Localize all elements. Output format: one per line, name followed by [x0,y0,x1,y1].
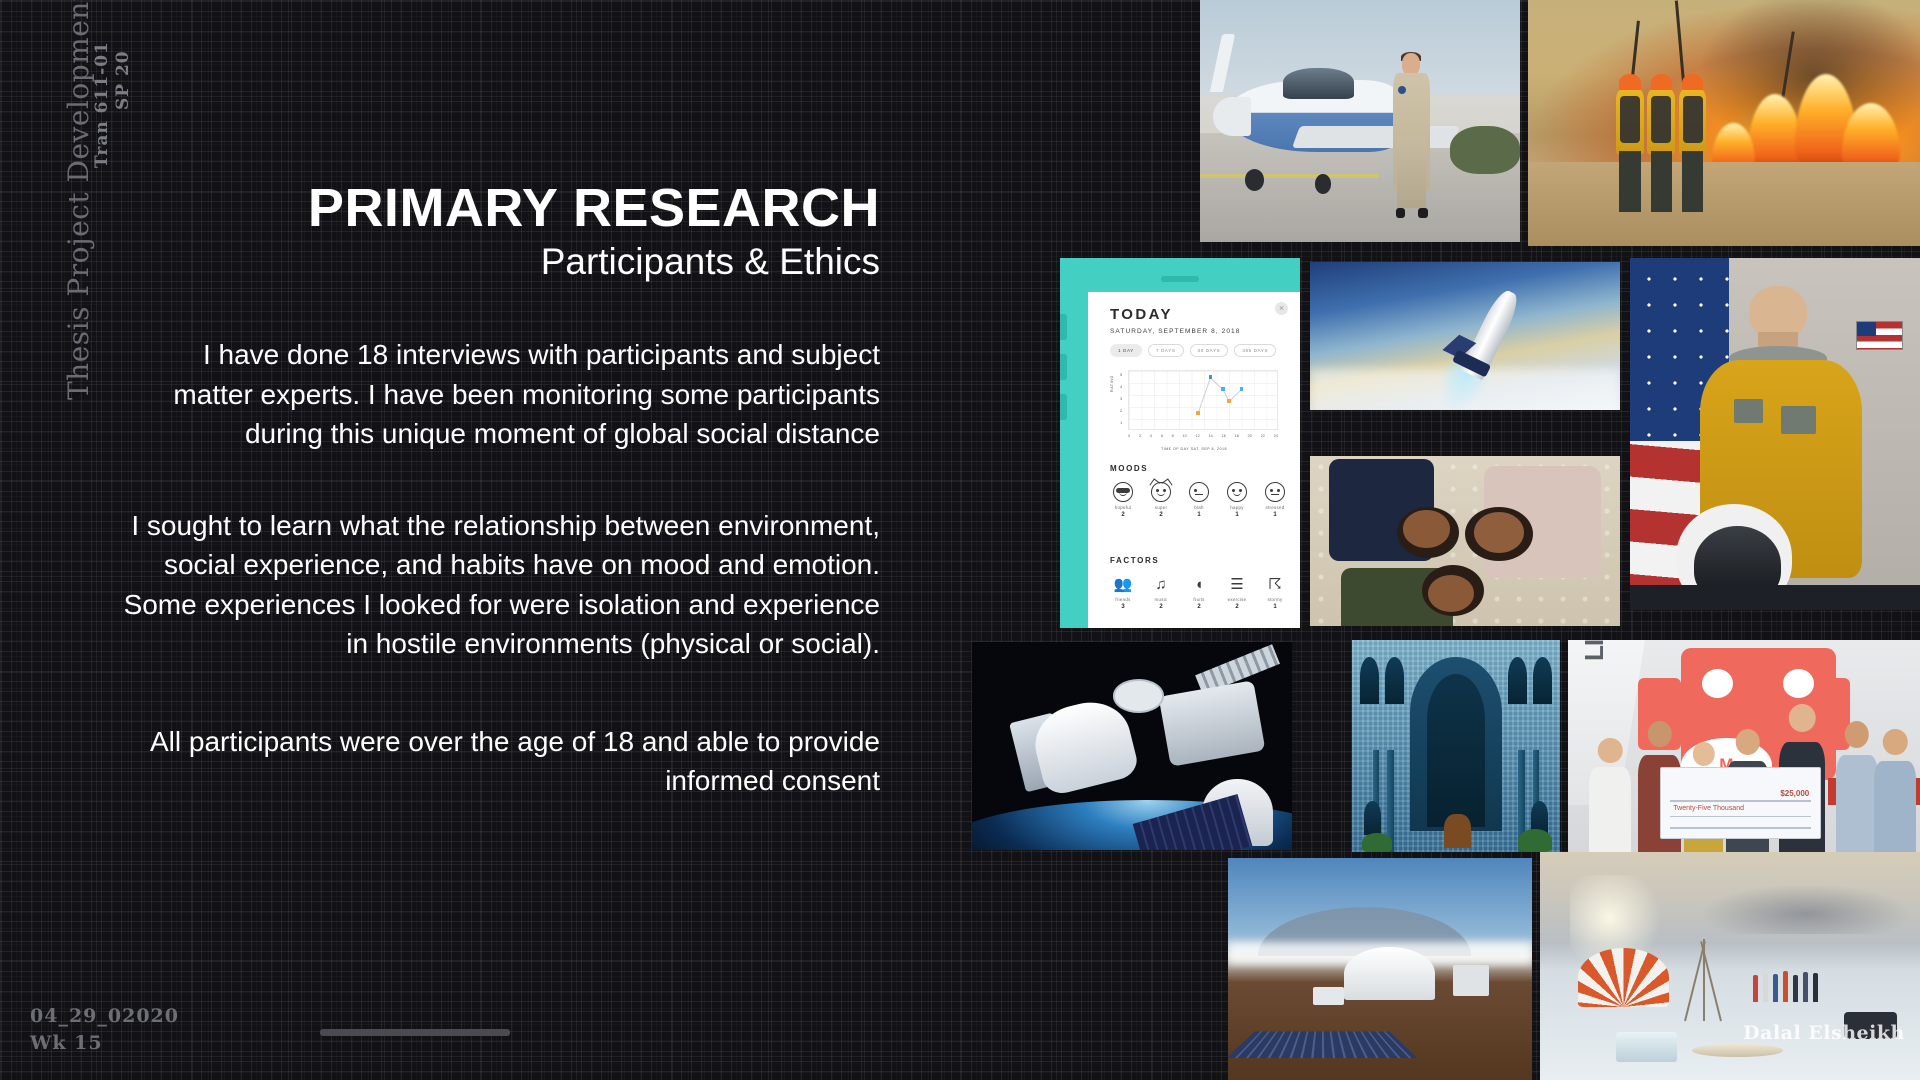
wildfire-scene [1528,0,1920,246]
body-paragraph-3: All participants were over the age of 18… [120,722,880,801]
expedition-team [1753,966,1882,1002]
aircraft-main-wheel [1315,174,1331,193]
mood-stressed[interactable]: stressed 1 [1258,482,1292,518]
pilot-head [1402,53,1419,74]
habitat-scene [1228,858,1532,1080]
presenter-head [1789,704,1816,732]
chart-xtick: 14 [1209,434,1213,438]
mood-hopeful[interactable]: hopeful 2 [1106,482,1140,518]
chart-data-point [1221,387,1225,391]
mood-label: happy [1220,505,1254,510]
phone-button-2 [1060,354,1067,380]
firefighter-helmet [1682,74,1703,92]
body-paragraph-1: I have done 18 interviews with participa… [120,335,880,453]
pilot-duffel-bag [1450,126,1520,174]
attendee-head [1735,729,1759,755]
factor-music[interactable]: ♫ music 2 [1144,574,1178,610]
mood-count: 1 [1182,512,1216,518]
maker-faire-award-photo[interactable]: M LIVE Make [1568,640,1920,852]
live-banner-text: LIVE [1579,640,1610,661]
factor-fruits[interactable]: ◖ fruits 2 [1182,574,1216,610]
mosque-inner-arch [1427,674,1485,827]
chart-data-point [1196,411,1200,415]
solar-panel-array [1228,1031,1418,1058]
aircraft-nose-wheel [1245,169,1264,191]
page-title: PRIMARY RESEARCH [120,180,880,237]
mood-label: hopeful [1106,505,1140,510]
app-title: TODAY [1110,306,1173,323]
spine-course-code: Tran 611-01 [92,41,112,168]
check-memo-line [1670,816,1811,818]
equipment-crate [1313,987,1343,1005]
footer-meta: 04_29_02020 Wk 15 [30,1003,179,1058]
friends-icon: 👥 [1111,574,1135,594]
spine-term: SP 20 [113,50,133,110]
firefighter-legs [1682,151,1703,212]
author-signature: Dalal Elsheikh [1743,1022,1905,1044]
range-selector[interactable]: 1 DAY 7 DAYS 30 DAYS 365 DAYS [1110,344,1276,357]
mood-label: super [1144,505,1178,510]
factor-label: exercise [1220,597,1254,602]
attendee-1 [1589,738,1631,852]
mars-habitat-dome-photo[interactable] [1228,858,1532,1080]
mood-happy[interactable]: happy 1 [1220,482,1254,518]
horns-face-icon [1151,482,1171,502]
firefighter-helmet [1651,74,1672,92]
factor-friends[interactable]: 👥 friends 3 [1106,574,1140,610]
spine-course-title: Thesis Project Development [62,0,95,400]
chart-xtick: 20 [1248,434,1252,438]
mosque-window-5 [1364,801,1381,835]
team-member [1803,972,1808,1003]
aircraft-canopy [1283,68,1353,99]
chart-ytick-4: 4 [1120,384,1122,389]
attendee-head [1844,721,1868,749]
phone-button-1 [1060,314,1067,340]
chart-xtick: 16 [1222,434,1226,438]
shrub-right [1518,829,1551,852]
sled-kayak [1692,1044,1783,1058]
factor-count: 3 [1106,604,1140,610]
attendee-body [1874,761,1916,852]
weights-icon: ☰ [1225,574,1249,594]
team-member [1753,975,1758,1002]
factor-label: music [1144,597,1178,602]
factor-label: stormy [1258,597,1292,602]
suit-patch-center [1781,406,1816,434]
chart-ytick-2: 2 [1120,408,1122,413]
mood-label: blah [1182,505,1216,510]
chart-data-point [1240,387,1244,391]
mosque-window-4 [1533,657,1552,704]
chart-xtick: 24 [1274,434,1278,438]
attendee-body [1589,767,1631,852]
banana-icon: ◖ [1187,574,1211,594]
firefighter-1 [1614,74,1645,212]
mood-label: stressed [1258,505,1292,510]
mosque-window-3 [1508,657,1527,704]
wildfire-firefighters-photo[interactable] [1528,0,1920,246]
pilot-boot-left [1396,208,1405,218]
giant-prize-check: $25,000 Twenty-Five Thousand [1660,767,1822,839]
firefighter-pack [1683,96,1703,143]
range-option-365-days[interactable]: 365 DAYS [1234,344,1276,357]
habitat-dome [1344,947,1435,1000]
chart-y-axis-label: RATING [1110,375,1114,392]
firefighter-pack [1620,96,1640,143]
chart-xtick: 4 [1150,434,1152,438]
firefighter-legs [1651,151,1672,212]
smiley-face-icon [1227,482,1247,502]
factor-exercise[interactable]: ☰ exercise 2 [1220,574,1254,610]
docking-adapter [1113,679,1164,712]
page-subtitle: Participants & Ethics [120,241,880,284]
friends-on-floor-photo[interactable] [1310,456,1620,626]
chart-ytick-5: 5 [1120,372,1122,377]
runway-marking [1200,174,1379,178]
mosque-door [1444,814,1471,848]
mood-count: 2 [1106,512,1140,518]
mosque-window-2 [1385,657,1404,704]
pilot-boot-right [1418,208,1427,218]
close-icon[interactable]: × [1275,302,1288,315]
body-paragraph-2: I sought to learn what the relationship … [120,506,880,664]
crew-dragon-docking-photo[interactable] [972,642,1292,850]
table-surface [1630,585,1920,610]
mood-tracker-phone-mockup[interactable]: × TODAY SATURDAY, SEPTEMBER 8, 2018 1 DA… [1060,258,1300,628]
friend-1-head [1403,510,1450,547]
orange-dome-tent [1578,948,1669,1007]
suit-patch-left [1734,399,1763,424]
chart-xtick: 6 [1161,434,1163,438]
attendee-head [1598,738,1622,763]
support-shed [1453,965,1489,996]
mood-count: 2 [1144,512,1178,518]
chart-xtick: 10 [1183,434,1187,438]
headphones-icon: ♫ [1149,574,1173,594]
chart-line-segment [1197,377,1210,413]
firefighter-helmet [1619,74,1640,92]
mood-blah[interactable]: blah 1 [1182,482,1216,518]
check-amount: $25,000 [1780,789,1809,798]
mood-count: 1 [1258,512,1292,518]
chart-x-axis-ticks: 0 2 4 6 8 10 12 14 16 18 20 22 24 [1128,434,1278,438]
app-screen: × TODAY SATURDAY, SEPTEMBER 8, 2018 1 DA… [1088,292,1300,628]
check-amount-line [1670,800,1811,802]
team-member [1763,973,1768,1003]
phone-frame: × TODAY SATURDAY, SEPTEMBER 8, 2018 1 DA… [1060,258,1300,628]
rocket-launch-photo[interactable] [1310,262,1620,410]
slide-progress-fill [320,1029,510,1036]
aircraft-nose [1213,97,1251,136]
pilot-legs [1397,136,1426,208]
factors-row: 👥 friends 3 ♫ music 2 ◖ fruits 2 [1106,574,1292,610]
factor-label: fruits [1182,597,1216,602]
firefighter-3 [1677,74,1708,212]
mood-count: 1 [1220,512,1254,518]
chart-xtick: 18 [1235,434,1239,438]
astronaut-portrait-photo[interactable] [1630,258,1920,610]
suit-flag-patch [1856,321,1902,349]
arctic-expedition-camp-photo[interactable]: Dalal Elsheikh [1540,852,1920,1080]
attendee-head [1647,721,1671,747]
friend-2-head [1474,512,1524,553]
ice-block [1616,1032,1677,1062]
presentation-slide: Thesis Project Development Tran 611-01 S… [0,0,1920,1080]
check-words: Twenty-Five Thousand [1673,805,1744,812]
slide-progress-bar[interactable] [320,1029,510,1036]
moods-heading: MOODS [1110,464,1148,473]
pilot-aircraft-photo[interactable] [1200,0,1520,242]
factor-count: 2 [1144,604,1178,610]
chart-data-point [1227,399,1231,403]
attendee-head [1692,742,1714,766]
fire-ground [1528,162,1920,246]
team-member [1813,973,1818,1002]
phone-side-buttons [1060,314,1067,434]
friends-scene [1310,456,1620,626]
cloud-bank [1700,884,1913,934]
arctic-scene: Dalal Elsheikh [1540,852,1920,1080]
blue-tiled-mosque-photo[interactable] [1352,640,1560,852]
slide-text-column: PRIMARY RESEARCH Participants & Ethics I… [120,180,880,800]
factors-heading: FACTORS [1110,556,1159,565]
station-docking-node [1159,680,1266,766]
attendee-head [1883,729,1907,755]
range-option-1-day[interactable]: 1 DAY [1110,344,1142,357]
range-option-30-days[interactable]: 30 DAYS [1190,344,1229,357]
attendee-6 [1874,729,1916,852]
firefighter-pack [1651,96,1671,143]
shrub-left [1362,833,1391,852]
factor-label: friends [1106,597,1140,602]
phone-speaker [1161,276,1199,282]
footer-date: 04_29_02020 [30,1003,179,1031]
team-member [1793,975,1798,1003]
firefighter-legs [1619,151,1640,212]
attendee-body [1836,755,1878,852]
spacecraft-scene [972,642,1292,850]
mood-rating-chart [1128,370,1278,430]
chart-data-point [1209,375,1213,379]
chart-ytick-1: 1 [1120,420,1122,425]
pilot-aircraft-scene [1200,0,1520,242]
footer-week: Wk 15 [30,1030,179,1058]
chart-ytick-3: 3 [1120,396,1122,401]
range-option-7-days[interactable]: 7 DAYS [1148,344,1184,357]
award-ceremony-scene: M LIVE Make [1568,640,1920,852]
team-member [1783,971,1788,1002]
chart-xtick: 2 [1139,434,1141,438]
chart-xtick: 8 [1172,434,1174,438]
mood-super[interactable]: super 2 [1144,482,1178,518]
mosque-facade [1352,640,1560,852]
chart-x-axis-label: TIME OF DAY SAT, SEP 8, 2018 [1088,447,1300,451]
mosque-window-1 [1360,657,1379,704]
flat-face-icon [1265,482,1285,502]
shades-face-icon [1113,482,1133,502]
phone-button-3 [1060,394,1067,420]
firefighter-2 [1646,74,1677,212]
storm-icon: ☈ [1263,574,1287,594]
blah-face-icon [1189,482,1209,502]
rocket-scene [1310,262,1620,410]
astronaut-scene [1630,258,1920,610]
aircraft-tail [1210,34,1235,92]
chart-xtick: 0 [1128,434,1130,438]
attendee-5 [1836,721,1878,852]
factor-count: 1 [1258,604,1292,610]
team-member [1773,974,1778,1002]
check-signature-line [1670,827,1811,829]
chart-xtick: 22 [1261,434,1265,438]
app-date: SATURDAY, SEPTEMBER 8, 2018 [1110,328,1241,335]
survey-tripod [1684,939,1722,1021]
factor-count: 2 [1220,604,1254,610]
moods-row: hopeful 2 super 2 blah 1 [1106,482,1292,518]
chart-xtick: 12 [1196,434,1200,438]
factor-count: 2 [1182,604,1216,610]
pilot-figure [1386,53,1437,218]
factor-stormy[interactable]: ☈ stormy 1 [1258,574,1292,610]
